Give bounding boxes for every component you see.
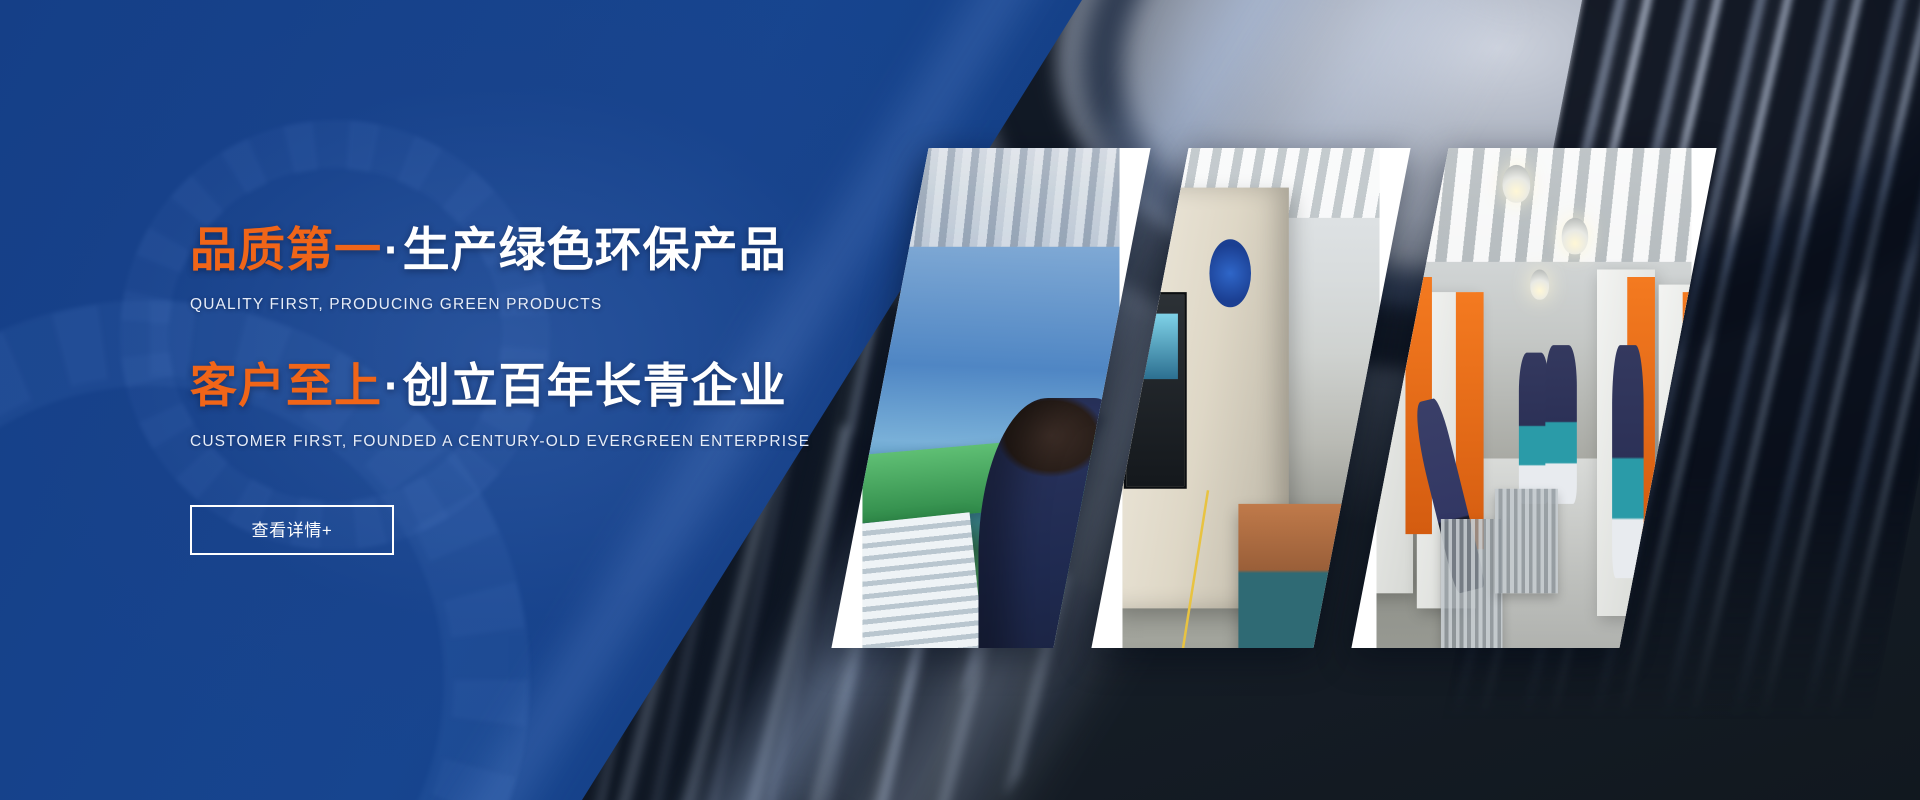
worker-mid-2: [1546, 345, 1577, 503]
view-details-button[interactable]: 查看详情+: [190, 505, 394, 555]
headline-2-separator: ·: [382, 359, 403, 412]
subtitle-line-1: QUALITY FIRST, PRODUCING GREEN PRODUCTS: [190, 296, 950, 314]
headline-line-2: 客户至上·创立百年长青企业: [190, 358, 950, 413]
trolley-cart-2: [1495, 488, 1557, 593]
hero-copy-block: 品质第一·生产绿色环保产品 QUALITY FIRST, PRODUCING G…: [190, 222, 950, 555]
hero-banner: 品质第一·生产绿色环保产品 QUALITY FIRST, PRODUCING G…: [0, 0, 1920, 800]
headline-line-1: 品质第一·生产绿色环保产品: [190, 222, 950, 277]
worker-foreground: [1612, 345, 1643, 578]
copy-spacer: [190, 314, 950, 358]
trolley-cart-1: [1440, 518, 1502, 648]
headline-1-separator: ·: [382, 223, 403, 276]
machine-badge-icon: [1210, 240, 1251, 308]
headline-1-rest: 生产绿色环保产品: [403, 223, 787, 276]
headline-2-rest: 创立百年长青企业: [403, 359, 787, 412]
pendant-lamp-3-icon: [1530, 270, 1550, 300]
subtitle-line-2: CUSTOMER FIRST, FOUNDED A CENTURY-OLD EV…: [190, 433, 950, 451]
pendant-lamp-1-icon: [1503, 165, 1530, 203]
pendant-lamp-2-icon: [1561, 217, 1588, 255]
headline-2-accent: 客户至上: [190, 359, 382, 412]
headline-1-accent: 品质第一: [190, 223, 382, 276]
